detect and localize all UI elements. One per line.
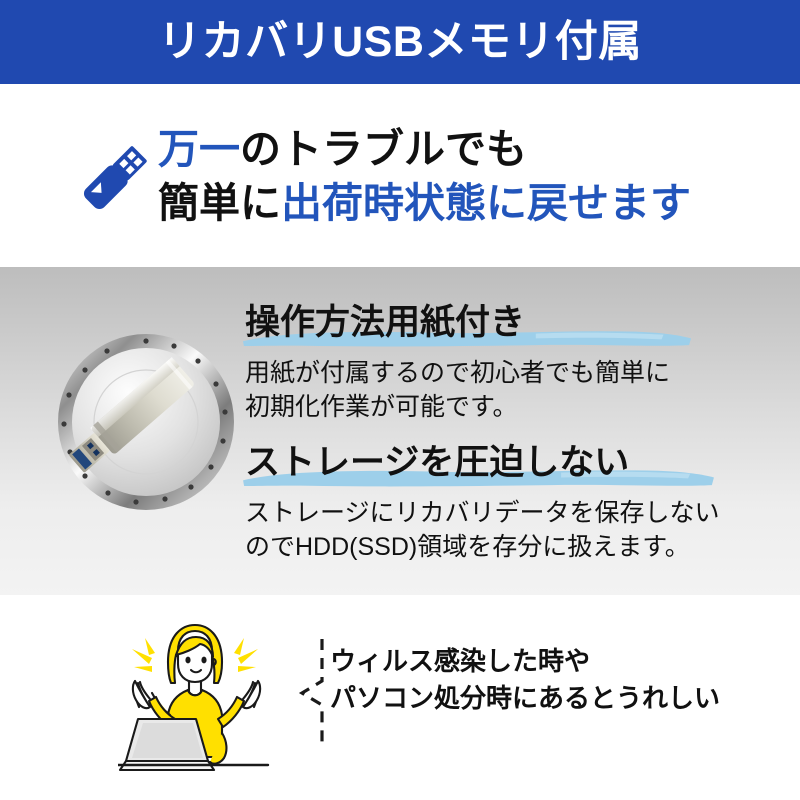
usb-memory-on-metal-disc-photo: [48, 322, 244, 518]
feature-body-2-line-1: ストレージにリカバリデータを保存しない: [245, 496, 775, 531]
feature-body-1-line-2: 初期化作業が可能です。: [245, 390, 775, 425]
bottom-line-2: パソコン処分時にあるとうれしい: [330, 680, 780, 717]
hero-section: 万一のトラブルでも 簡単に出荷時状態に戻せます: [0, 84, 800, 267]
bottom-line-1: ウィルス感染した時や: [330, 643, 780, 680]
feature-body-1: 用紙が付属するので初心者でも簡単に 初期化作業が可能です。: [245, 356, 775, 425]
hero-line-2-accent: 出荷時状態に戻せます: [281, 180, 691, 226]
bottom-section: ウィルス感染した時や パソコン処分時にあるとうれしい: [0, 595, 800, 800]
hero-line-1-accent: 万一: [158, 126, 240, 172]
hero-line-1-rest: のトラブルでも: [240, 126, 527, 172]
feature-item-1: 操作方法用紙付き 用紙が付属するので初心者でも簡単に 初期化作業が可能です。: [245, 302, 775, 425]
feature-body-2-line-2: のでHDD(SSD)領域を存分に扱えます。: [245, 530, 775, 565]
hero-line-2-lead: 簡単に: [158, 180, 281, 226]
header-banner: リカバリUSBメモリ付属: [0, 0, 800, 84]
hero-text-block: 万一のトラブルでも 簡単に出荷時状態に戻せます: [158, 122, 778, 230]
promo-banner-page: リカバリUSBメモリ付属 万一のトラブルでも 簡単に出荷時状態に戻せます: [0, 0, 800, 800]
features-section: 操作方法用紙付き 用紙が付属するので初心者でも簡単に 初期化作業が可能です。 ス…: [0, 267, 800, 595]
hero-line-2: 簡単に出荷時状態に戻せます: [158, 176, 778, 230]
feature-body-2: ストレージにリカバリデータを保存しない のでHDD(SSD)領域を存分に扱えます…: [245, 496, 775, 565]
page-title: リカバリUSBメモリ付属: [158, 21, 642, 64]
feature-item-2: ストレージを圧迫しない ストレージにリカバリデータを保存しない のでHDD(SS…: [245, 442, 775, 565]
feature-heading-1-text: 操作方法用紙付き: [245, 303, 525, 342]
feature-body-1-line-1: 用紙が付属するので初心者でも簡単に: [245, 356, 775, 391]
feature-heading-2: ストレージを圧迫しない: [245, 442, 629, 487]
feature-heading-1: 操作方法用紙付き: [245, 302, 525, 347]
hero-line-1: 万一のトラブルでも: [158, 122, 778, 176]
bottom-text-block: ウィルス感染した時や パソコン処分時にあるとうれしい: [330, 643, 780, 717]
feature-heading-2-text: ストレージを圧迫しない: [245, 443, 629, 482]
usb-flash-drive-icon: [72, 135, 158, 221]
